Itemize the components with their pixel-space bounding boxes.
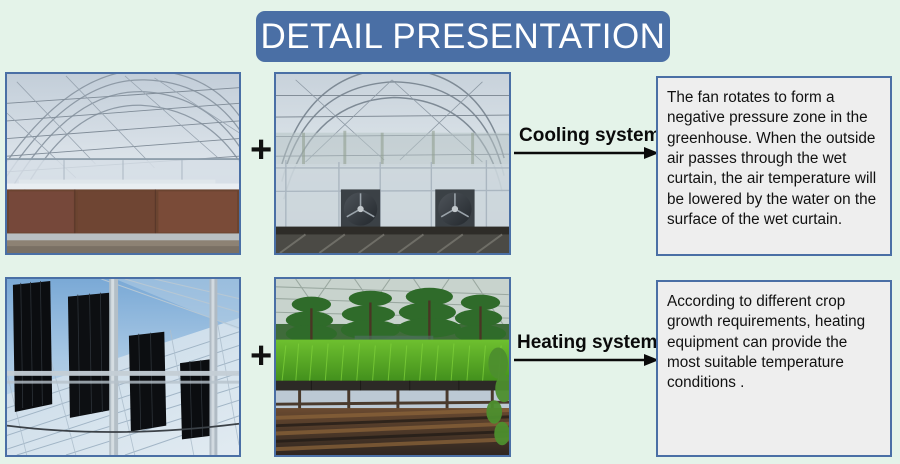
greenhouse-wet-curtain-photo (5, 72, 241, 255)
description-text-heating: According to different crop growth requi… (667, 292, 881, 394)
greenhouse-nursery-plants-photo (274, 277, 511, 457)
flow-label-heating: Heating system (517, 333, 657, 352)
greenhouse-exhaust-fans-photo (274, 72, 511, 255)
description-text-cooling: The fan rotates to form a negative press… (667, 88, 881, 230)
description-box-cooling: The fan rotates to form a negative press… (656, 76, 892, 256)
flow-label-cooling: Cooling system (519, 126, 660, 145)
flow-arrow-heating-icon (513, 352, 659, 368)
description-box-heating: According to different crop growth requi… (656, 280, 892, 457)
plus-operator-top: + (250, 131, 272, 169)
page-title-banner: DETAIL PRESENTATION (256, 11, 670, 62)
page-title: DETAIL PRESENTATION (261, 19, 666, 54)
plus-operator-bottom: + (250, 337, 272, 375)
greenhouse-solar-heating-panels-photo (5, 277, 241, 457)
flow-arrow-cooling-icon (513, 145, 659, 161)
